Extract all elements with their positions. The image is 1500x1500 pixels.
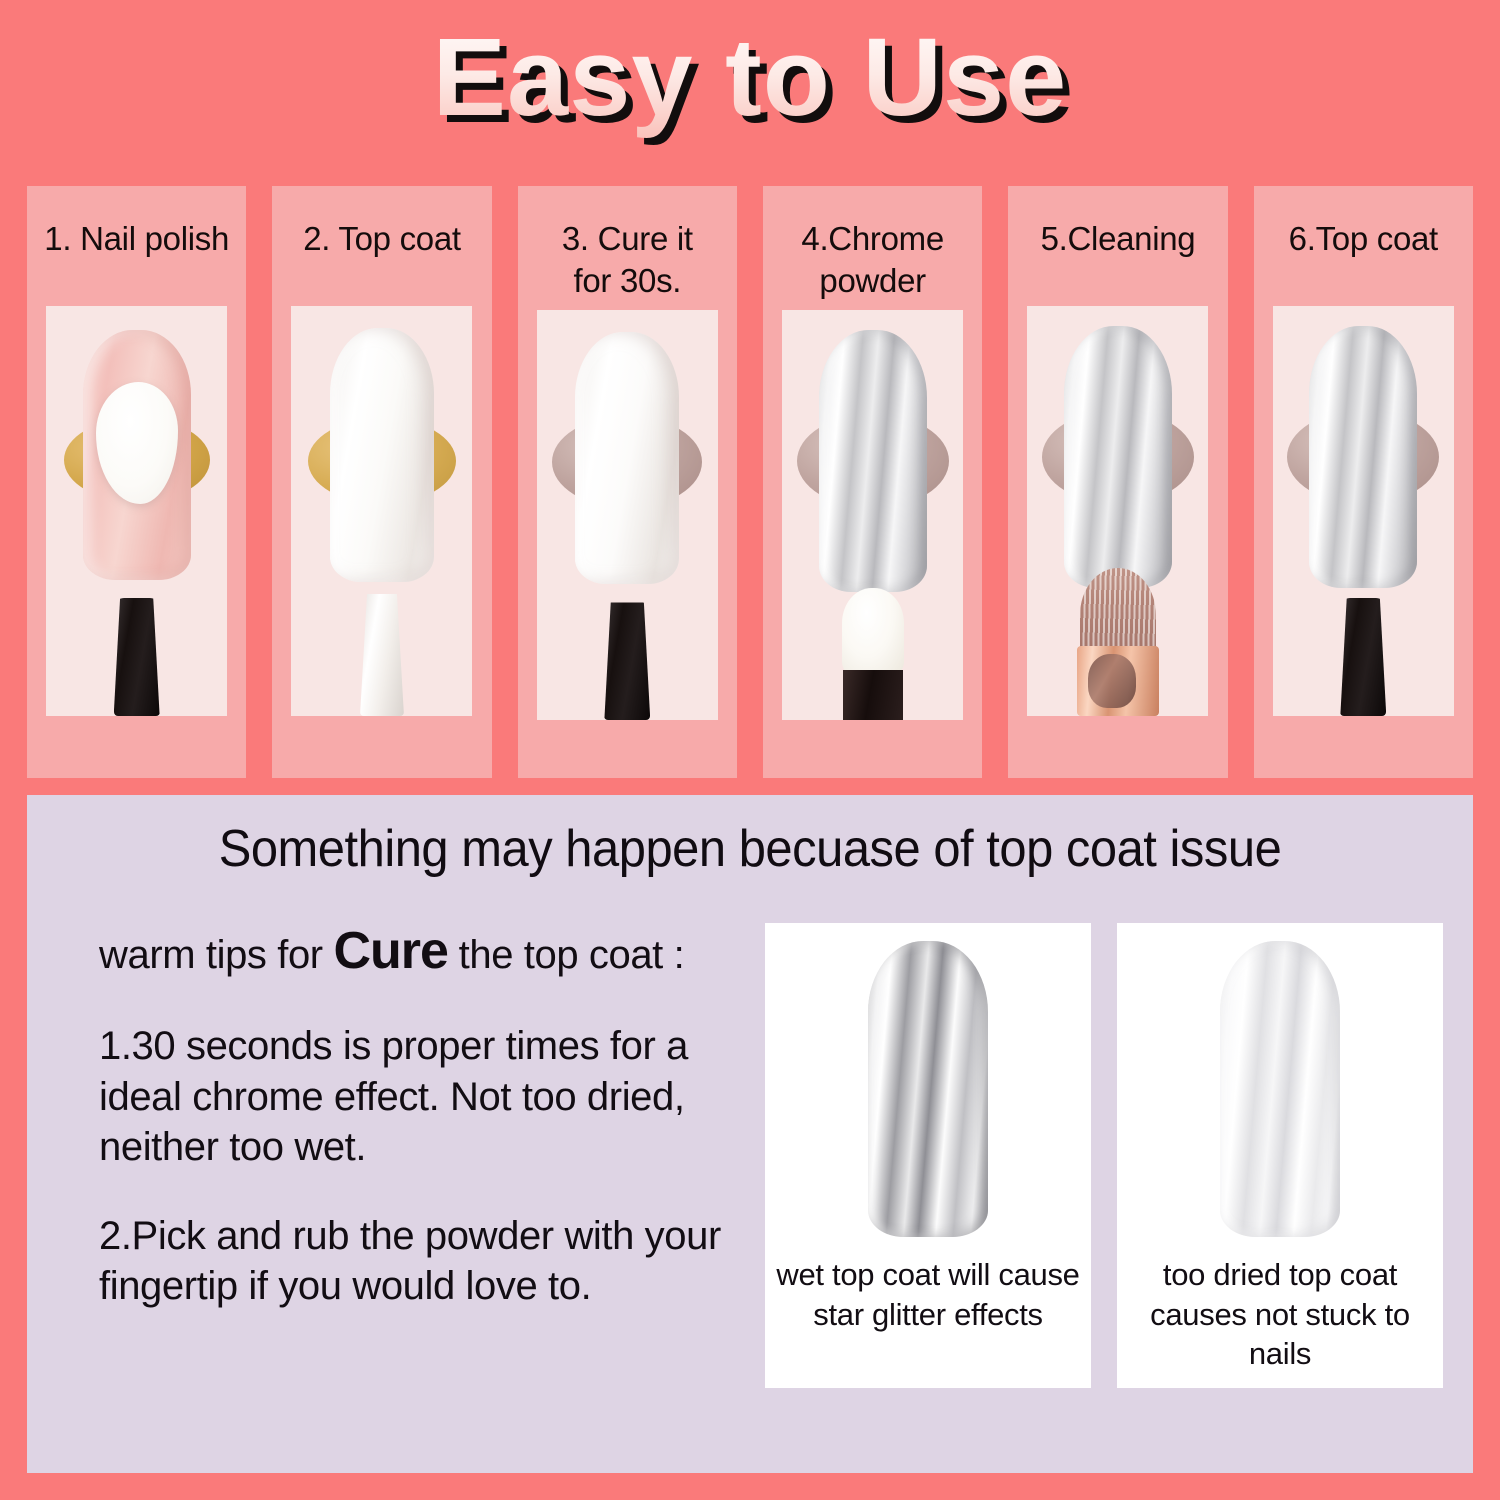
- step-label-5: 5.Cleaning: [1035, 186, 1202, 298]
- warm-tips-heading-after: the top coat :: [448, 933, 684, 977]
- step-photo-6: [1273, 306, 1454, 716]
- nail-pearly-white: [1220, 941, 1340, 1237]
- sponge-stick: [843, 670, 903, 720]
- troubleshooting-body: warm tips for Cure the top coat : 1.30 s…: [27, 879, 1473, 1388]
- troubleshooting-heading: Something may happen becuase of top coat…: [70, 795, 1429, 879]
- steps-row: 1. Nail polish 2. Top coat 3. Cure itfor…: [27, 186, 1473, 778]
- warm-tips-heading: warm tips for Cure the top coat :: [99, 919, 743, 983]
- nail-chrome: [1309, 326, 1417, 588]
- step-photo-1: [46, 306, 227, 716]
- step-photo-4: [782, 310, 963, 720]
- black-bottle-cap-icon: [1340, 598, 1386, 716]
- dust-brush-icon: [1072, 568, 1164, 716]
- white-bottle-cap-icon: [360, 594, 404, 716]
- warm-tips-heading-emphasis: Cure: [333, 922, 447, 980]
- comparison-caption-dried: too dried top coat causes not stuck to n…: [1125, 1255, 1435, 1374]
- sponge-head: [842, 588, 904, 676]
- step-card-3: 3. Cure itfor 30s.: [518, 186, 737, 778]
- page-title: Easy to Use: [423, 23, 1078, 145]
- brush-bristles: [1080, 568, 1156, 652]
- title-bar: Easy to Use: [0, 0, 1500, 168]
- nail-chrome: [1064, 326, 1172, 588]
- step-label-2: 2. Top coat: [297, 186, 467, 298]
- comparison-photo-dried: [1205, 941, 1355, 1241]
- troubleshooting-panel: Something may happen becuase of top coat…: [27, 795, 1473, 1473]
- step-label-4: 4.Chromepowder: [795, 186, 950, 302]
- brush-ferrule: [1077, 646, 1159, 716]
- warm-tips-column: warm tips for Cure the top coat : 1.30 s…: [57, 919, 743, 1388]
- nail-white-glossy: [330, 328, 434, 582]
- comparison-photo-wet: [853, 941, 1003, 1241]
- step-card-5: 5.Cleaning: [1008, 186, 1227, 778]
- step-photo-3: [537, 310, 718, 720]
- comparison-caption-wet: wet top coat will cause star glitter eff…: [773, 1255, 1083, 1334]
- warm-tips-heading-before: warm tips for: [99, 933, 333, 977]
- warm-tip-1: 1.30 seconds is proper times for a ideal…: [99, 1021, 743, 1172]
- comparison-card-wet: wet top coat will cause star glitter eff…: [765, 923, 1091, 1388]
- step-card-2: 2. Top coat: [272, 186, 491, 778]
- step-card-6: 6.Top coat: [1254, 186, 1473, 778]
- nail-white-cured: [575, 332, 679, 584]
- step-label-1: 1. Nail polish: [38, 186, 235, 298]
- step-photo-2: [291, 306, 472, 716]
- sponge-applicator-icon: [838, 588, 908, 720]
- step-label-3: 3. Cure itfor 30s.: [556, 186, 699, 302]
- nail-chrome: [819, 330, 927, 592]
- step-card-1: 1. Nail polish: [27, 186, 246, 778]
- step-label-6: 6.Top coat: [1283, 186, 1444, 298]
- black-bottle-cap-icon: [604, 602, 650, 720]
- comparison-cards: wet top coat will cause star glitter eff…: [765, 919, 1443, 1388]
- step-photo-5: [1027, 306, 1208, 716]
- black-bottle-cap-icon: [114, 598, 160, 716]
- step-card-4: 4.Chromepowder: [763, 186, 982, 778]
- warm-tip-2: 2.Pick and rub the powder with your fing…: [99, 1211, 743, 1312]
- nail-bright-chrome: [868, 941, 988, 1237]
- comparison-card-dried: too dried top coat causes not stuck to n…: [1117, 923, 1443, 1388]
